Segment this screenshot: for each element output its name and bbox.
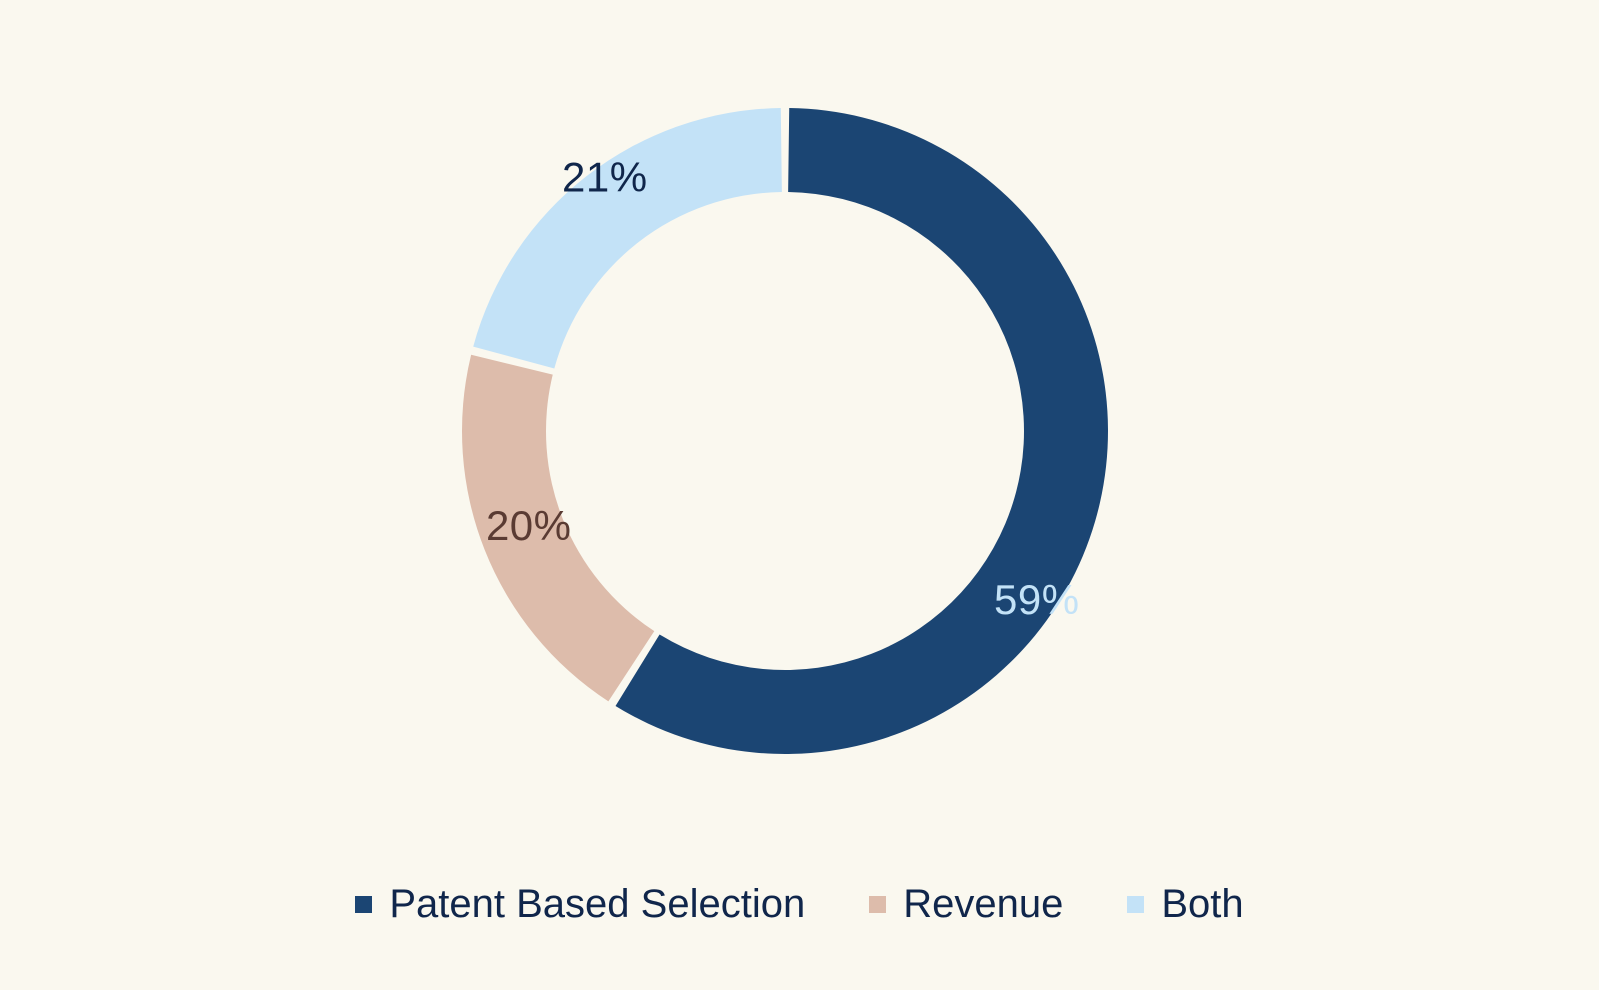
legend-swatch-icon [355,896,372,913]
donut-slice[interactable] [473,108,782,369]
donut-slices [462,108,1108,754]
slice-percentage-label: 59% [994,576,1080,623]
legend-item-label: Revenue [903,884,1063,924]
donut-chart: 59%20%21% Patent Based Selection Revenue… [0,0,1599,990]
legend-swatch-icon [869,896,886,913]
legend-swatch-icon [1127,896,1144,913]
legend-item-label: Both [1161,884,1243,924]
slice-percentage-label: 21% [562,153,648,200]
donut-chart-svg: 59%20%21% [0,0,1599,990]
legend-item-both[interactable]: Both [1127,884,1243,924]
chart-legend: Patent Based Selection Revenue Both [0,872,1599,936]
legend-item-patent-based-selection[interactable]: Patent Based Selection [355,884,805,924]
slice-percentage-label: 20% [486,502,572,549]
legend-item-label: Patent Based Selection [389,884,805,924]
legend-item-revenue[interactable]: Revenue [869,884,1063,924]
